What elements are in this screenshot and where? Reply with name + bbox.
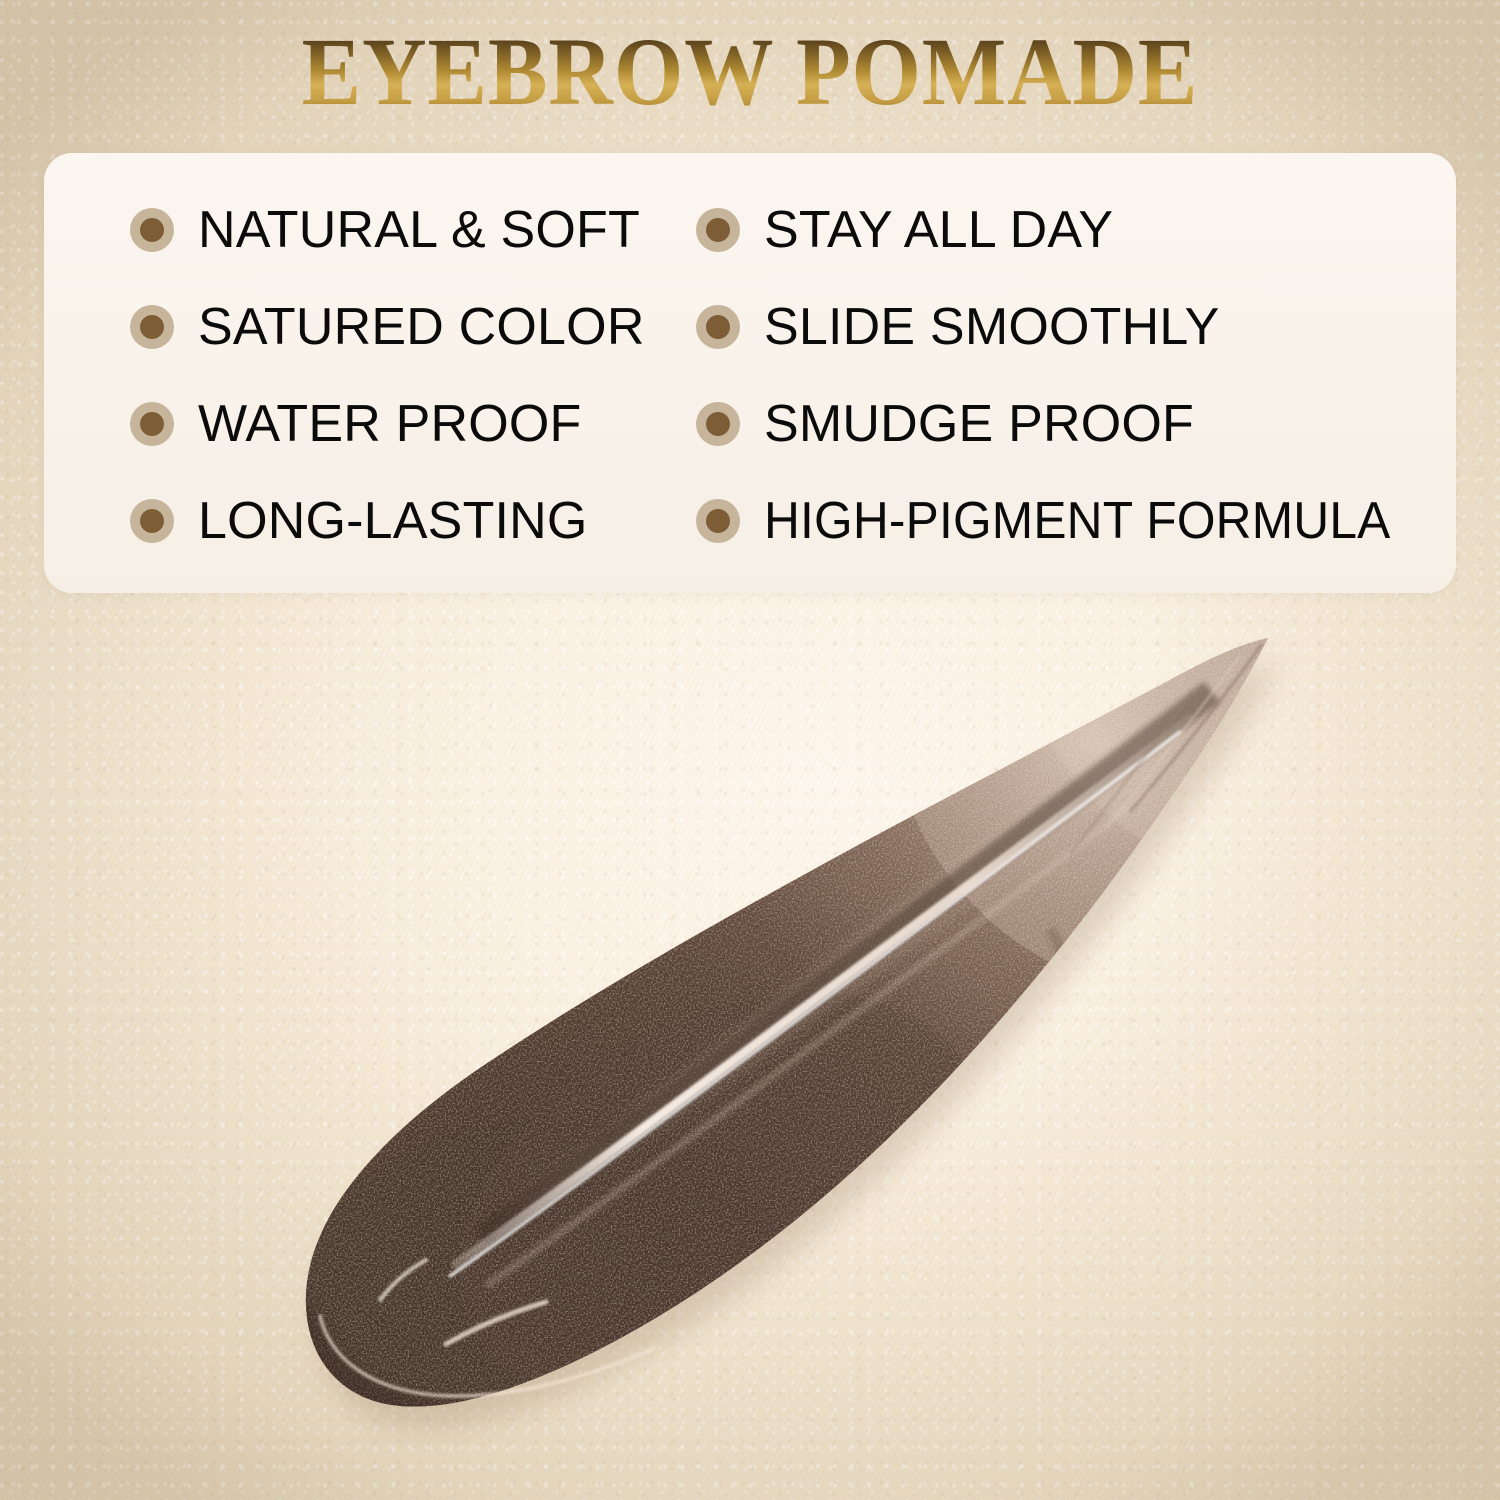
bullet-dot-icon	[696, 305, 740, 349]
feature-item-natural-and-soft: NATURAL & SOFT	[44, 181, 660, 278]
feature-item-water-proof: WATER PROOF	[44, 375, 660, 472]
product-feature-graphic: EYEBROW POMADE NATURAL & SOFT STAY ALL D…	[0, 0, 1500, 1500]
feature-card: NATURAL & SOFT STAY ALL DAY SATURED COLO…	[44, 153, 1456, 593]
feature-item-high-pigment-formula: HIGH-PIGMENT FORMULA	[660, 472, 1456, 569]
bullet-dot-icon	[696, 499, 740, 543]
feature-list: NATURAL & SOFT STAY ALL DAY SATURED COLO…	[44, 153, 1456, 593]
swatch-shadow	[318, 660, 1280, 1429]
bullet-dot-icon	[130, 499, 174, 543]
feature-item-slide-smoothly: SLIDE SMOOTHLY	[660, 278, 1456, 375]
feature-label: NATURAL & SOFT	[198, 204, 640, 256]
feature-label: HIGH-PIGMENT FORMULA	[764, 495, 1390, 547]
bullet-dot-icon	[130, 208, 174, 252]
feature-label: SLIDE SMOOTHLY	[764, 301, 1220, 353]
bullet-dot-icon	[130, 402, 174, 446]
feature-item-long-lasting: LONG-LASTING	[44, 472, 660, 569]
eyebrow-pomade-smear	[250, 600, 1310, 1500]
feature-label: LONG-LASTING	[198, 495, 588, 547]
feature-item-satured-color: SATURED COLOR	[44, 278, 660, 375]
bullet-dot-icon	[696, 208, 740, 252]
bullet-dot-icon	[130, 305, 174, 349]
feature-label: STAY ALL DAY	[764, 204, 1113, 256]
feature-label: SATURED COLOR	[198, 301, 645, 353]
swatch-body	[250, 600, 1310, 1500]
feature-item-smudge-proof: SMUDGE PROOF	[660, 375, 1456, 472]
feature-label: SMUDGE PROOF	[764, 398, 1194, 450]
bullet-dot-icon	[696, 402, 740, 446]
page-title: EYEBROW POMADE	[53, 24, 1448, 120]
feature-item-stay-all-day: STAY ALL DAY	[660, 181, 1456, 278]
feature-label: WATER PROOF	[198, 398, 582, 450]
